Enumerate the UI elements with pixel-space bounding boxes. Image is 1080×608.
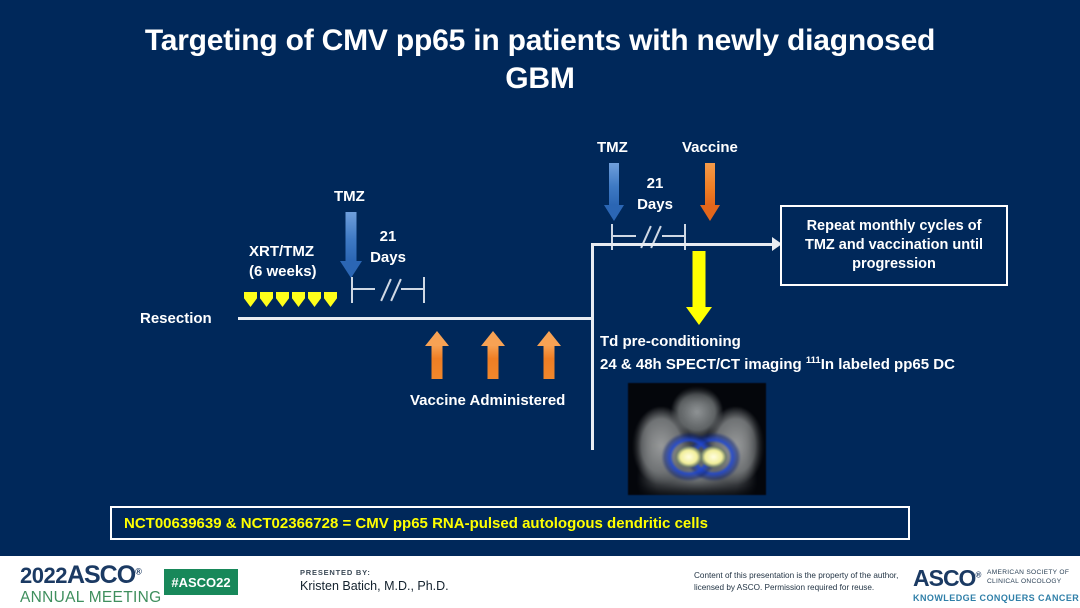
cycle-timeline <box>591 243 779 246</box>
xrt-label-line1: XRT/TMZ <box>249 243 314 260</box>
main-timeline <box>238 317 594 320</box>
hashtag-badge[interactable]: #ASCO22 <box>164 569 238 595</box>
vaccine-arrow-top <box>699 163 721 221</box>
asco-wordmark: ASCO <box>67 561 135 589</box>
xrt-chevron <box>244 292 257 307</box>
days-left-value: 21 <box>368 228 408 245</box>
asco-annual-meeting-logo: 2022ASCO® ANNUAL MEETING <box>20 563 161 606</box>
registered-mark-icon: ® <box>975 570 980 579</box>
tmz-label-top: TMZ <box>597 139 628 156</box>
interval-bracket-left <box>351 277 425 303</box>
asco-org-subtitle: AMERICAN SOCIETY OF CLINICAL ONCOLOGY <box>987 569 1069 587</box>
xrt-chevron <box>324 292 337 307</box>
days-left-unit: Days <box>362 249 414 266</box>
td-preconditioning-arrow <box>686 251 712 325</box>
registered-mark-icon: ® <box>135 567 141 577</box>
cycle-riser-line <box>591 243 594 450</box>
tmz-arrow-left <box>340 212 362 278</box>
days-top-unit: Days <box>630 196 680 213</box>
xrt-label-line2: (6 weeks) <box>249 263 317 280</box>
presented-by-label: PRESENTED BY: <box>300 568 449 577</box>
asco-org-logo: ASCO® AMERICAN SOCIETY OF CLINICAL ONCOL… <box>913 567 1079 603</box>
td-preconditioning-line1: Td pre-conditioning <box>600 333 741 350</box>
interval-bracket-top <box>611 224 686 250</box>
spect-ct-image <box>628 383 766 495</box>
td-line2-post: In labeled pp65 DC <box>821 356 955 373</box>
td-line2-pre: 24 & 48h SPECT/CT imaging <box>600 356 806 373</box>
vaccine-label-top: Vaccine <box>682 139 738 156</box>
page-title: Targeting of CMV pp65 in patients with n… <box>120 22 960 99</box>
days-top-value: 21 <box>636 175 674 192</box>
tmz-label-left: TMZ <box>334 188 365 205</box>
vaccine-arrow <box>481 331 505 379</box>
nct-banner: NCT00639639 & NCT02366728 = CMV pp65 RNA… <box>110 506 910 540</box>
slide-canvas: Targeting of CMV pp65 in patients with n… <box>0 0 1080 608</box>
rights-statement: Content of this presentation is the prop… <box>694 570 904 594</box>
xrt-chevron <box>308 292 321 307</box>
nct-banner-text: NCT00639639 & NCT02366728 = CMV pp65 RNA… <box>112 508 908 538</box>
asco-tagline: KNOWLEDGE CONQUERS CANCER <box>913 593 1079 603</box>
slide-footer: 2022ASCO® ANNUAL MEETING #ASCO22 PRESENT… <box>0 556 1080 608</box>
xrt-chevron <box>292 292 305 307</box>
presented-by-block: PRESENTED BY: Kristen Batich, M.D., Ph.D… <box>300 568 449 593</box>
resection-label: Resection <box>140 310 212 327</box>
tmz-arrow-top <box>603 163 625 221</box>
vaccine-arrow <box>425 331 449 379</box>
asco-year: 2022 <box>20 563 67 588</box>
repeat-cycles-box: Repeat monthly cycles of TMZ and vaccina… <box>780 205 1008 286</box>
repeat-cycles-text: Repeat monthly cycles of TMZ and vaccina… <box>782 207 1006 284</box>
isotope-superscript: 111 <box>806 355 821 366</box>
vaccine-administered-label: Vaccine Administered <box>410 392 565 409</box>
vaccine-arrow <box>537 331 561 379</box>
td-preconditioning-line2: 24 & 48h SPECT/CT imaging 111In labeled … <box>600 355 955 373</box>
xrt-chevron <box>276 292 289 307</box>
xrt-chevron <box>260 292 273 307</box>
presenter-name: Kristen Batich, M.D., Ph.D. <box>300 579 449 593</box>
annual-meeting-label: ANNUAL MEETING <box>20 589 161 606</box>
